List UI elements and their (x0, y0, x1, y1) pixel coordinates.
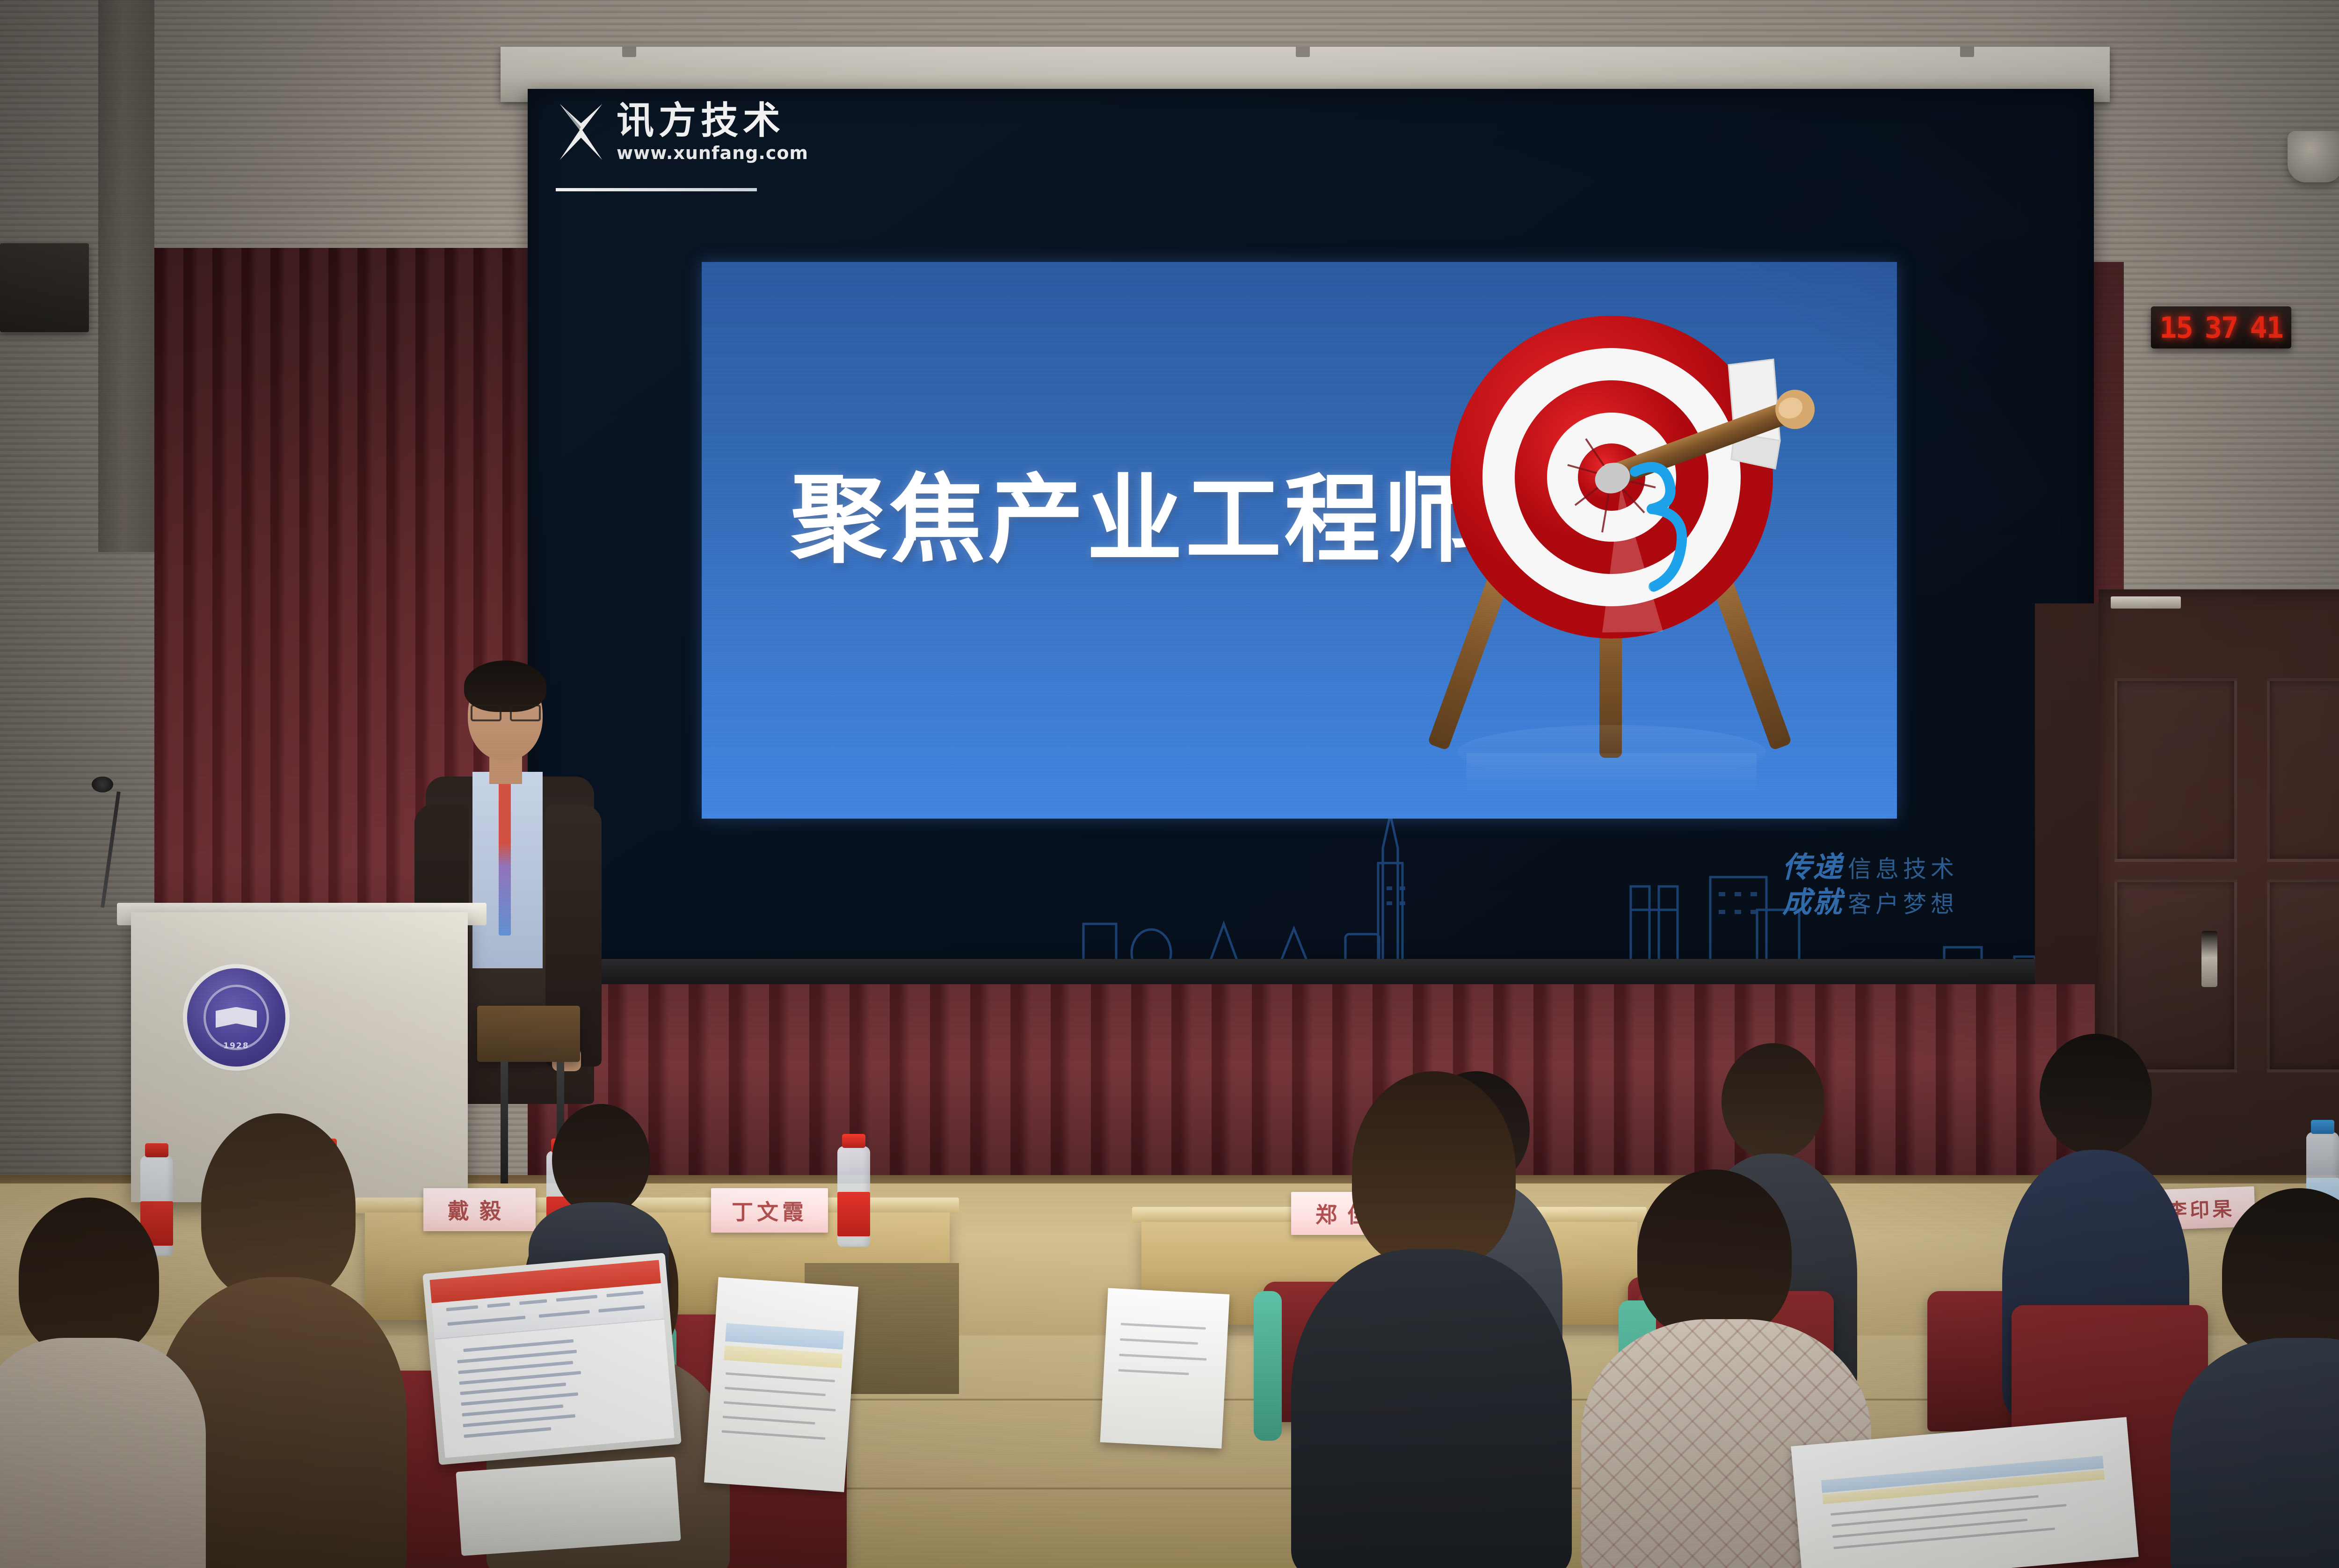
tagline-line1-strong: 传递 (1782, 850, 1843, 884)
archery-target-icon (1401, 276, 1822, 814)
university-seal-icon: 1928 (187, 968, 285, 1067)
water-bottle (837, 1146, 870, 1247)
audience-member (0, 1198, 196, 1568)
wall-pilaster (98, 0, 154, 552)
xunfang-mark-icon (557, 102, 605, 162)
door-top-trim (2111, 596, 2181, 609)
door-handle[interactable] (2201, 931, 2217, 987)
clock-hours: 15 (2159, 311, 2193, 345)
company-tagline: 传递信息技术 成就客户梦想 (1782, 849, 1958, 920)
clock-seconds: 41 (2250, 311, 2283, 345)
clock-minutes: 37 (2205, 311, 2238, 345)
tagline-line2-strong: 成就 (1782, 885, 1843, 919)
wall-equipment-box (0, 243, 89, 332)
tagline-line2-light: 客户梦想 (1848, 891, 1958, 918)
digital-clock: 15 37 41 (2151, 306, 2291, 348)
xunfang-logo: 讯方技术 www.xunfang.com (557, 102, 808, 162)
chair-trim (1254, 1291, 1282, 1441)
placard-name: 丁文霞 (732, 1195, 807, 1226)
screen-bottom-bar (518, 959, 2104, 986)
brand-website: www.xunfang.com (617, 144, 808, 162)
laptop-keyboard[interactable] (456, 1457, 681, 1556)
handout-paper (1100, 1288, 1230, 1448)
laptop-screen[interactable] (422, 1253, 682, 1465)
audience-member (1291, 1071, 1572, 1568)
brand-company-name: 讯方技术 (617, 102, 808, 139)
brand-underline (556, 188, 757, 191)
lecture-hall-scene: 讯方技术 www.xunfang.com (0, 0, 2339, 1568)
presenter-lanyard (499, 781, 511, 936)
seal-year: 1928 (223, 1041, 249, 1051)
presenter-glasses-icon (471, 704, 541, 719)
microphone-icon (92, 777, 113, 792)
presentation-slide: 聚焦产业工程师培养 (702, 262, 1897, 819)
stool-seat (477, 1006, 580, 1062)
audience-member (2171, 1188, 2339, 1568)
handout-paper (704, 1277, 858, 1492)
ceiling-speaker (2288, 131, 2339, 182)
tagline-line1-light: 信息技术 (1848, 856, 1958, 883)
